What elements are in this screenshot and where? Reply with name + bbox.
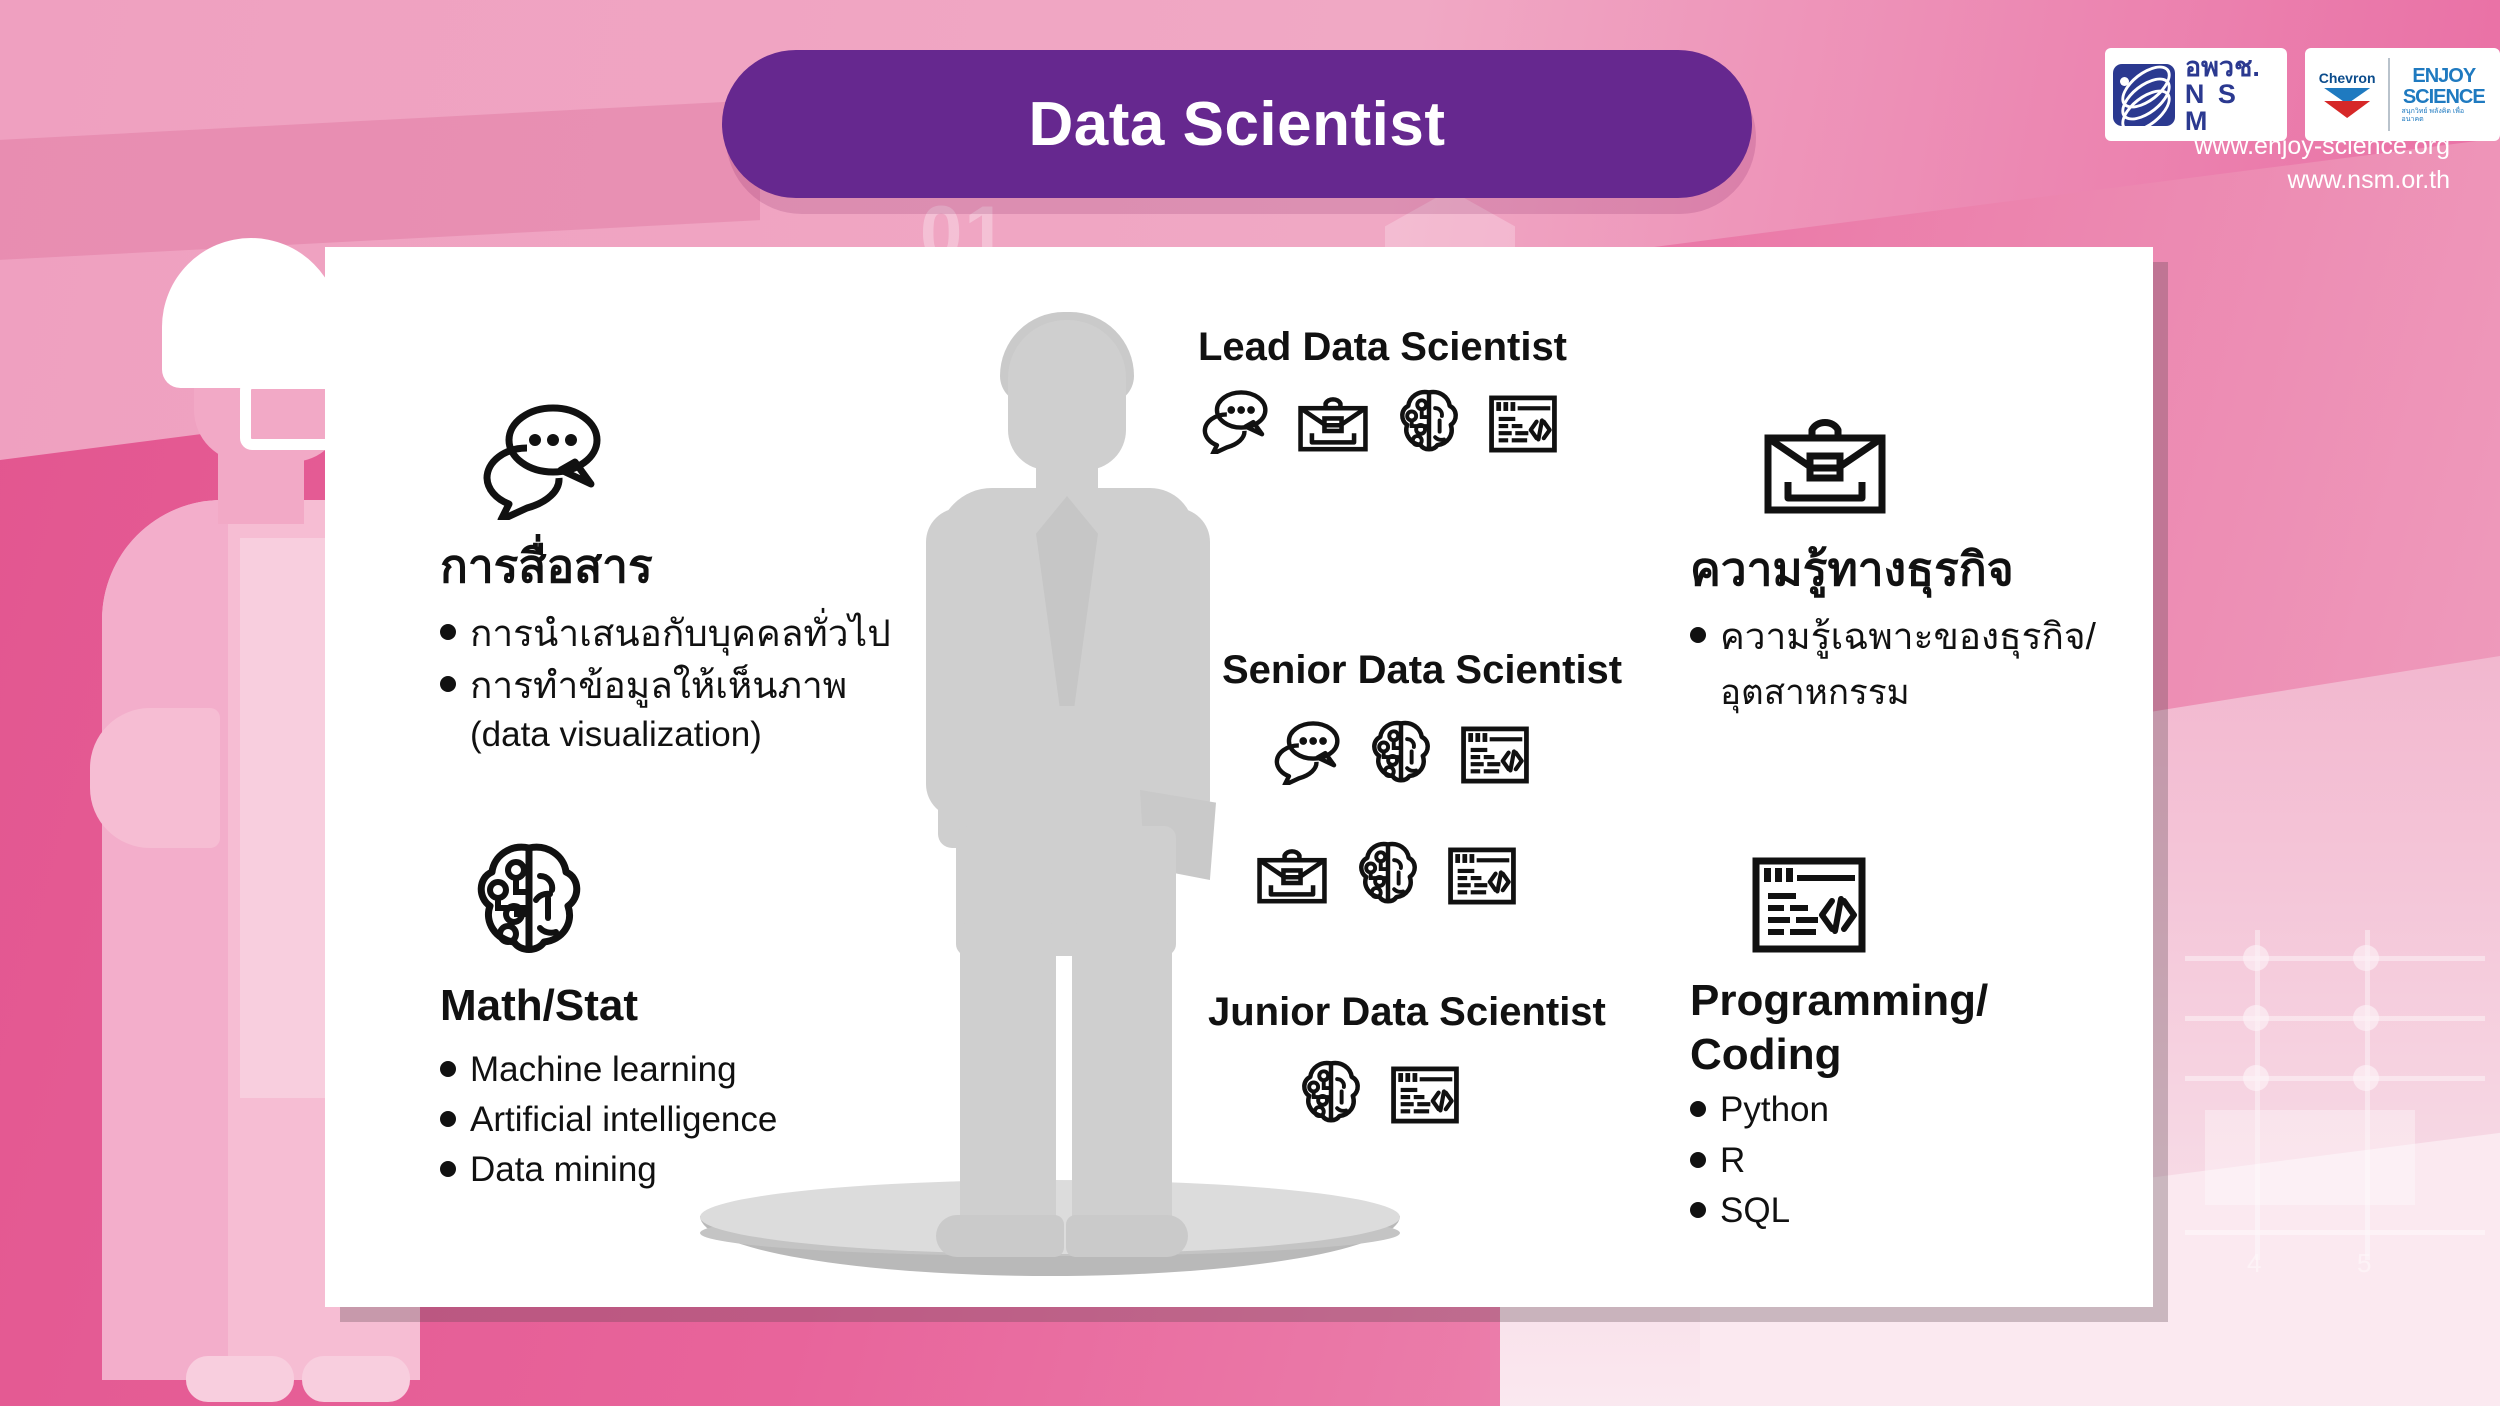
speech-bubbles-icon — [1270, 719, 1342, 785]
enjoy-science-logo: ENJOY SCIENCE สนุกวิทย์ พลังคิด เพื่ออนา… — [2402, 66, 2486, 123]
speech-bubbles-icon — [440, 400, 910, 520]
logo-divider — [2388, 58, 2390, 131]
grid-number-5: 5 — [2357, 1248, 2371, 1279]
list-item: Data mining — [440, 1147, 910, 1193]
list-item: ความรู้เฉพาะของธุรกิจ/ — [1690, 613, 2150, 662]
briefcase-icon — [1296, 392, 1370, 454]
enjoy-line2: SCIENCE — [2403, 87, 2485, 108]
list-item: Artificial intelligence — [440, 1097, 910, 1143]
career-level-senior-icons — [1270, 719, 1622, 785]
code-window-icon — [1488, 394, 1558, 454]
chevron-label: Chevron — [2319, 71, 2376, 85]
chevron-logo: Chevron — [2319, 71, 2376, 118]
code-window-icon — [1750, 855, 1868, 955]
code-window-icon — [1447, 846, 1517, 906]
skill-business-title: ความรู้ทางธุรกิจ — [1690, 541, 2150, 599]
skill-math-stat: Math/Stat Machine learning Artificial in… — [440, 840, 910, 1197]
brain-circuit-icon — [1396, 388, 1462, 454]
nsm-abbr-label: N S M — [2185, 81, 2275, 135]
skill-business-subline: อุตสาหกรรม — [1720, 665, 2150, 720]
website-nsm[interactable]: www.nsm.or.th — [2100, 164, 2450, 198]
skill-communication: การสื่อสาร การนำเสนอกับบุคคลทั่วไป การทำ… — [440, 400, 910, 755]
speech-bubbles-icon — [1198, 388, 1270, 454]
list-item: Machine learning — [440, 1047, 910, 1093]
career-level-junior: Junior Data Scientist — [1208, 990, 1606, 1125]
website-enjoy-science[interactable]: www.enjoy-science.org — [2100, 130, 2450, 164]
grid-decoration: 4 5 — [2185, 930, 2500, 1300]
career-level-senior: Senior Data Scientist — [1222, 648, 1622, 785]
skill-business: ความรู้ทางธุรกิจ ความรู้เฉพาะของธุรกิจ/ … — [1690, 410, 2150, 720]
list-item: Python — [1690, 1087, 2150, 1133]
nsm-mark-icon — [2113, 64, 2175, 126]
skill-programming: Programming/ Coding Python R SQL — [1690, 855, 2150, 1238]
list-item: R — [1690, 1138, 2150, 1184]
skill-math-stat-title: Math/Stat — [440, 979, 910, 1033]
website-links: www.enjoy-science.org www.nsm.or.th — [2100, 130, 2450, 198]
nsm-logo: อพวช. N S M — [2105, 48, 2287, 141]
career-level-mid-icons — [1255, 840, 1517, 906]
skill-programming-title-line1: Programming/ — [1690, 974, 2150, 1028]
page-title: Data Scientist — [1028, 89, 1445, 160]
enjoy-line1: ENJOY — [2412, 66, 2475, 87]
career-level-mid — [1255, 840, 1517, 906]
list-item: การนำเสนอกับบุคคลทั่วไป — [440, 610, 910, 659]
briefcase-icon — [1255, 844, 1329, 906]
skill-programming-bullets: Python R SQL — [1690, 1087, 2150, 1234]
skill-math-stat-bullets: Machine learning Artificial intelligence… — [440, 1047, 910, 1194]
skill-communication-subline: (data visualization) — [470, 715, 910, 755]
brain-circuit-icon — [1368, 719, 1434, 785]
logo-group: อพวช. N S M Chevron ENJOY SCIENCE สนุกวิ… — [2105, 48, 2500, 141]
skill-business-bullets: ความรู้เฉพาะของธุรกิจ/ — [1690, 613, 2150, 662]
career-level-junior-label: Junior Data Scientist — [1208, 990, 1606, 1035]
code-window-icon — [1460, 725, 1530, 785]
career-level-lead: Lead Data Scientist — [1198, 325, 1567, 454]
briefcase-icon — [1760, 410, 1890, 518]
enjoy-line3: สนุกวิทย์ พลังคิด เพื่ออนาคต — [2402, 108, 2486, 123]
page-title-banner: Data Scientist — [722, 50, 1752, 198]
brain-circuit-icon — [470, 840, 588, 958]
career-level-lead-icons — [1198, 388, 1567, 454]
skill-communication-bullets: การนำเสนอกับบุคคลทั่วไป การทำข้อมูลให้เห… — [440, 610, 910, 712]
list-item: การทำข้อมูลให้เห็นภาพ — [440, 662, 910, 711]
chevron-enjoy-science-logo: Chevron ENJOY SCIENCE สนุกวิทย์ พลังคิด … — [2305, 48, 2500, 141]
career-level-lead-label: Lead Data Scientist — [1198, 325, 1567, 370]
career-level-senior-label: Senior Data Scientist — [1222, 648, 1622, 693]
skill-programming-title-line2: Coding — [1690, 1028, 2150, 1082]
career-level-junior-icons — [1298, 1059, 1606, 1125]
nsm-thai-label: อพวช. — [2185, 54, 2275, 81]
list-item: SQL — [1690, 1188, 2150, 1234]
chevron-mark-icon — [2324, 88, 2370, 118]
grid-number-4: 4 — [2247, 1248, 2261, 1279]
code-window-icon — [1390, 1065, 1460, 1125]
skill-communication-title: การสื่อสาร — [440, 538, 910, 596]
brain-circuit-icon — [1298, 1059, 1364, 1125]
brain-circuit-icon — [1355, 840, 1421, 906]
